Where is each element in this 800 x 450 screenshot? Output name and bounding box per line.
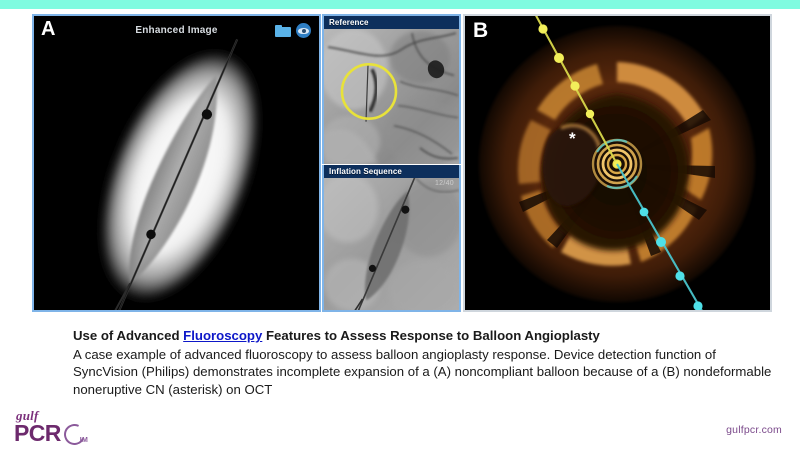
top-accent-bar [0, 0, 800, 9]
logo-pcr-text: PCR [14, 422, 61, 445]
slide-caption: Use of Advanced Fluoroscopy Features to … [73, 327, 773, 398]
fluoroscopy-balloon-image [34, 16, 319, 310]
frame-counter: 12/40 [435, 180, 454, 187]
inflation-sequence-image[interactable]: 12/40 [324, 178, 459, 310]
caption-body: A case example of advanced fluoroscopy t… [73, 346, 773, 399]
caption-title: Use of Advanced Fluoroscopy Features to … [73, 327, 773, 345]
logo-gim-mark: IM [64, 423, 94, 445]
eye-icon[interactable] [296, 23, 311, 38]
panel-b-corner-label: B [473, 19, 488, 43]
panel-a-toolbar[interactable] [275, 23, 311, 38]
reference-title: Reference [324, 16, 459, 29]
footer-url: gulfpcr.com [726, 424, 782, 436]
panel-inflation-sequence[interactable]: Inflation Sequence 12/40 [322, 165, 461, 312]
fluoroscopy-link[interactable]: Fluoroscopy [183, 328, 262, 343]
panel-reference[interactable]: Reference [322, 14, 461, 164]
reference-image[interactable] [324, 29, 459, 164]
panel-b-oct-image[interactable]: B [463, 14, 772, 312]
gulf-pcr-logo: gulf PCR IM [14, 409, 118, 447]
logo-gim-text: IM [80, 437, 88, 444]
inflation-sequence-title: Inflation Sequence [324, 165, 459, 178]
caption-title-part-2: Features to Assess Response to Balloon A… [262, 328, 600, 343]
oct-asterisk-marker: * [569, 130, 576, 147]
panel-a-enhanced-image[interactable]: A Enhanced Image [32, 14, 321, 312]
oct-cross-section [465, 16, 770, 310]
caption-title-part-1: Use of Advanced [73, 328, 183, 343]
folder-icon[interactable] [275, 25, 291, 37]
